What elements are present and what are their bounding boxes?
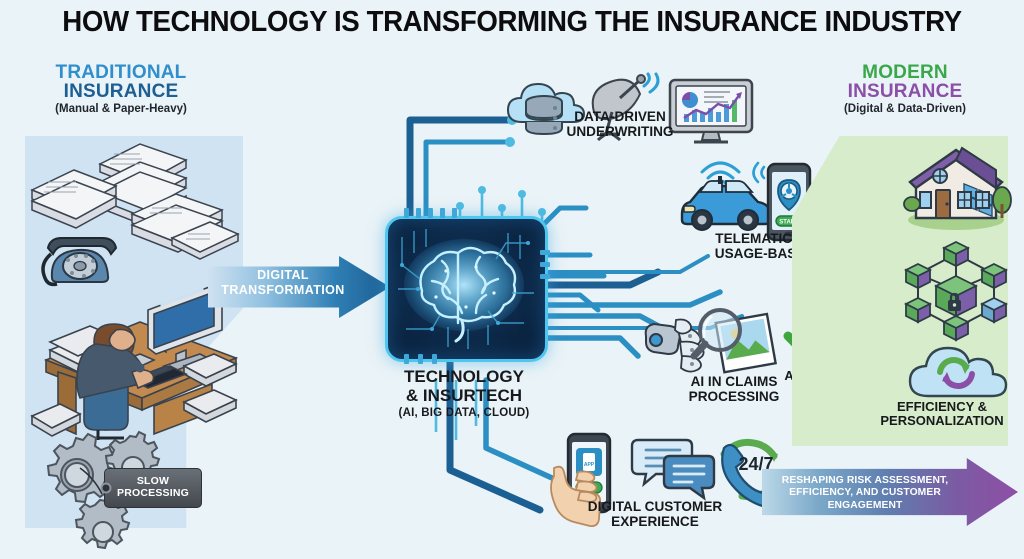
modern-insurance-heading: MODERN INSURANCE (Digital & Data-Driven) [790,63,1020,115]
re-line2: EFFICIENCY, AND CUSTOMER [762,487,968,499]
efficiency-personalization-label: EFFICIENCY & PERSONALIZATION [862,400,1022,429]
infographic-canvas: HOW TECHNOLOGY IS TRANSFORMING THE INSUR… [0,0,1024,559]
eff-line1: EFFICIENCY & [862,400,1022,414]
chip-pin [540,250,550,255]
eff-line2: PERSONALIZATION [862,414,1022,428]
modern-heading-line1: MODERN [790,63,1020,82]
blockchain-lock-cube-icon [898,238,1014,340]
tech-sublabel: (AI, BIG DATA, CLOUD) [348,407,580,420]
smart-home-solar-icon [900,142,1012,234]
dt-line2: TRANSFORMATION [208,283,358,298]
slow-processing-tag: SLOW PROCESSING [104,468,202,508]
chip-pin [428,208,433,218]
slow-processing-line2: PROCESSING [105,487,201,499]
chip-pin [416,208,421,218]
traditional-heading-line2: INSURANCE [6,82,236,101]
traditional-subtitle: (Manual & Paper-Heavy) [6,103,236,115]
digital-customer-experience-label: DIGITAL CUSTOMER EXPERIENCE [540,500,770,530]
technology-insurtech-label: TECHNOLOGY & INSURTECH (AI, BIG DATA, CL… [348,368,580,420]
rotary-telephone-icon [38,226,122,292]
modern-subtitle: (Digital & Data-Driven) [790,103,1020,115]
chip-pin [540,274,550,279]
slow-processing-line1: SLOW [105,469,201,487]
data-driven-underwriting-label: DATA-DRIVEN UNDERWRITING [520,110,720,140]
dt-line1: DIGITAL [208,268,358,283]
ddu-line1: DATA-DRIVEN [520,110,720,125]
cloud-sync-icon [908,344,1004,402]
chip-pin [404,208,409,218]
traditional-insurance-heading: TRADITIONAL INSURANCE (Manual & Paper-He… [6,63,236,115]
chip-pin [452,208,457,218]
modern-heading-line2: INSURANCE [790,82,1020,101]
chip-pin [418,354,423,364]
chip-pin [540,262,550,267]
digital-transformation-label: DIGITAL TRANSFORMATION [208,268,358,298]
chat-bubbles-icon [634,434,714,500]
tech-line1: TECHNOLOGY [348,368,580,387]
tag-hole-icon [96,478,116,498]
chip-pin [440,208,445,218]
re-line1: RESHAPING RISK ASSESSMENT, [762,475,968,487]
reshaping-outcome-label: RESHAPING RISK ASSESSMENT, EFFICIENCY, A… [762,475,968,512]
chip-pin [404,354,409,364]
svg-text:APP: APP [584,462,595,468]
ai-brain-chip-icon [385,216,548,362]
office-worker-desk-icon [36,288,238,438]
tech-line2: & INSURTECH [348,387,580,406]
ddu-line2: UNDERWRITING [520,125,720,140]
dcx-line1: DIGITAL CUSTOMER [540,500,770,515]
page-title: HOW TECHNOLOGY IS TRANSFORMING THE INSUR… [15,6,1008,39]
dcx-line2: EXPERIENCE [540,515,770,530]
chip-pin [432,354,437,364]
re-line3: ENGAGEMENT [762,500,968,512]
traditional-heading-line1: TRADITIONAL [6,63,236,82]
